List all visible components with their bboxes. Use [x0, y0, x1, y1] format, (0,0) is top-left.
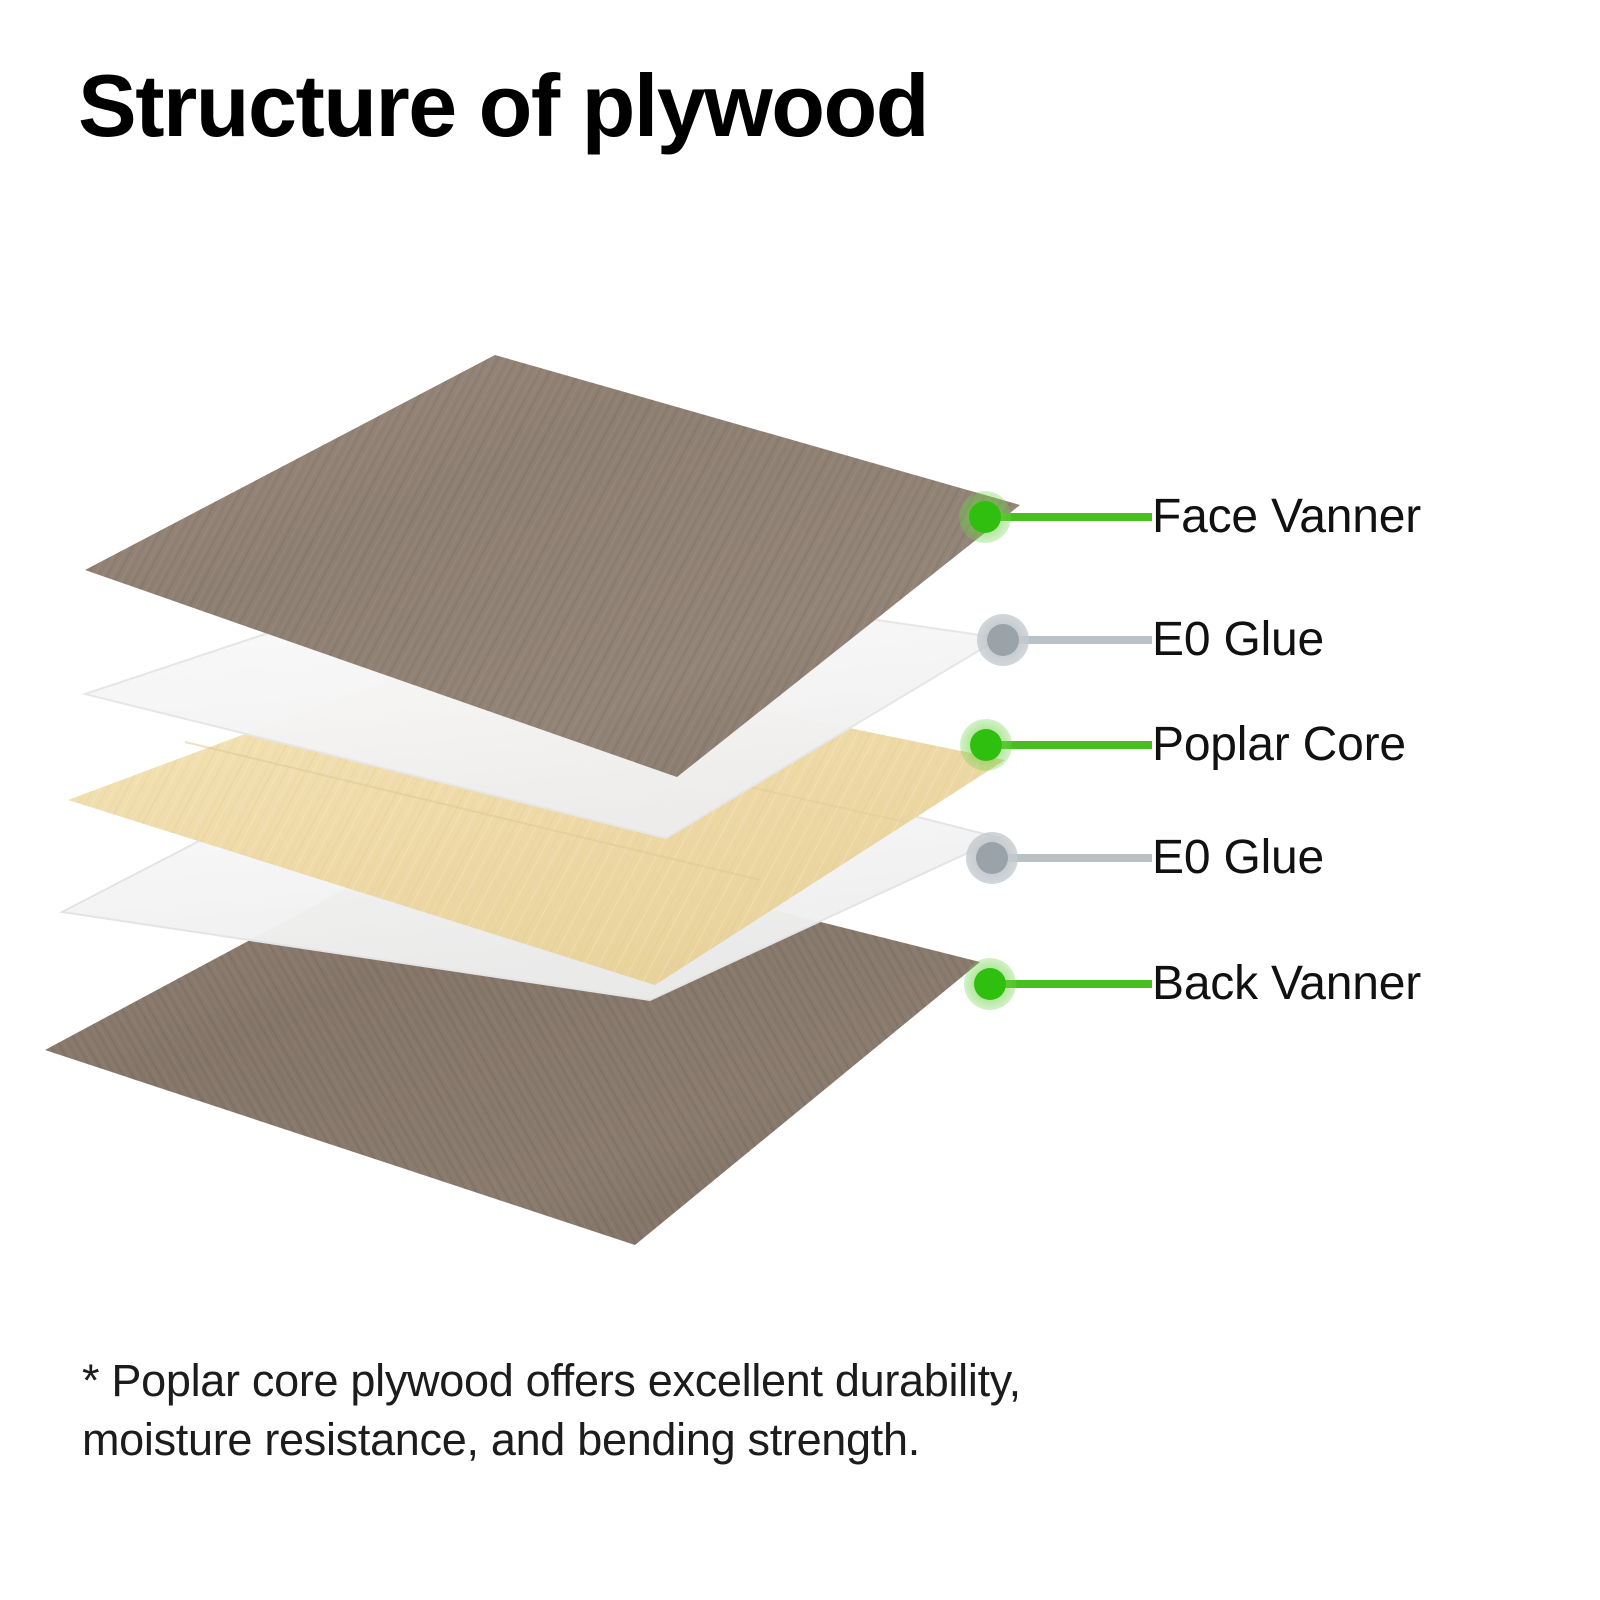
footnote: * Poplar core plywood offers excellent d…	[82, 1352, 1402, 1469]
label-poplar-core: Poplar Core	[1152, 745, 1406, 793]
infographic-canvas: Structure of plywood	[0, 0, 1600, 1600]
callout-poplar-core[interactable]	[960, 719, 1152, 771]
footnote-line-2: moisture resistance, and bending strengt…	[82, 1411, 1402, 1470]
label-face-vanner-text: Face Vanner	[1152, 493, 1421, 541]
label-glue-upper-text: E0 Glue	[1152, 616, 1324, 664]
label-face-vanner: Face Vanner	[1152, 517, 1421, 565]
plywood-layer-diagram	[0, 0, 1600, 1320]
footnote-line-1: * Poplar core plywood offers excellent d…	[82, 1352, 1402, 1411]
callout-glue-lower[interactable]	[966, 832, 1152, 884]
callout-back-vanner[interactable]	[964, 958, 1152, 1010]
label-poplar-core-text: Poplar Core	[1152, 721, 1406, 769]
label-glue-upper: E0 Glue	[1152, 640, 1324, 688]
callout-glue-upper[interactable]	[977, 614, 1152, 666]
label-back-vanner-text: Back Vanner	[1152, 960, 1421, 1008]
label-back-vanner: Back Vanner	[1152, 984, 1421, 1032]
label-glue-lower: E0 Glue	[1152, 858, 1324, 906]
callout-face-vanner[interactable]	[959, 491, 1152, 543]
label-glue-lower-text: E0 Glue	[1152, 834, 1324, 882]
